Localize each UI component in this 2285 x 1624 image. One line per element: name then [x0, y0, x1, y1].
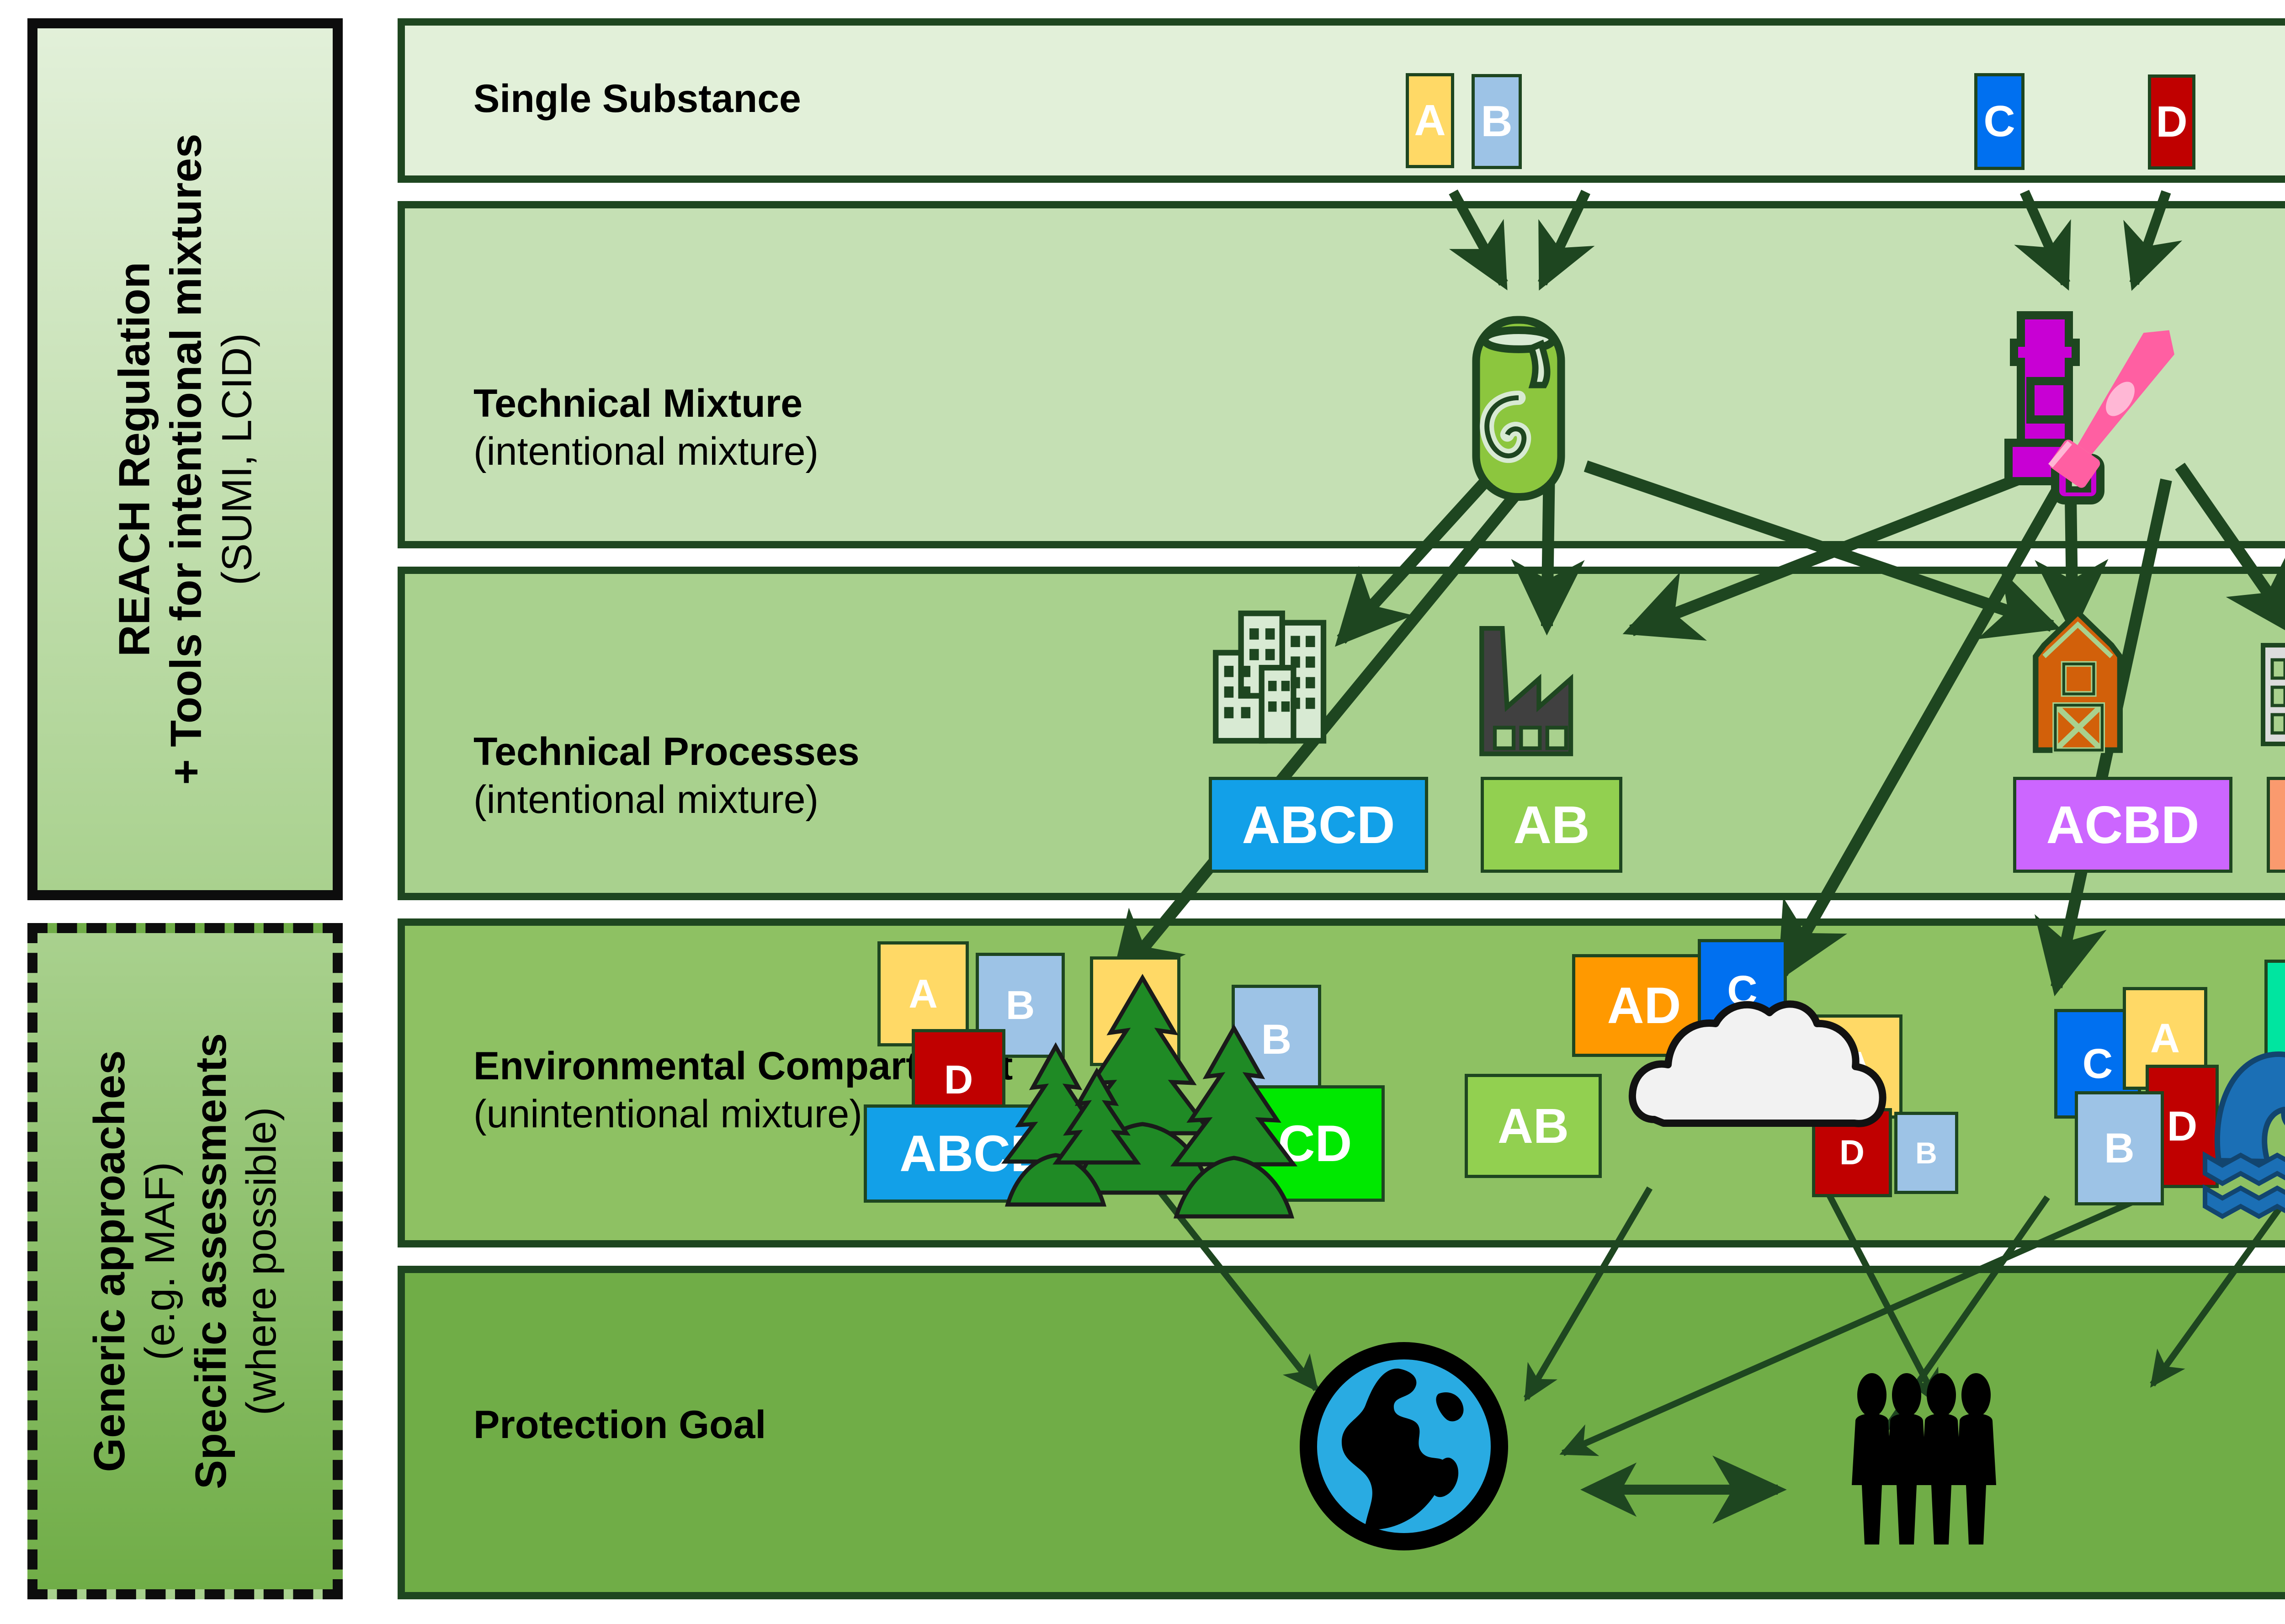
process-chip-bdac[interactable]: BDAC: [2267, 777, 2285, 873]
chip-label: CD: [1278, 1118, 1352, 1169]
row-label-protection-goal: Protection Goal: [473, 1401, 766, 1449]
row-protection-goal: Protection Goal: [398, 1266, 2285, 1599]
row-label-technical-processes: Technical Processes (intentional mixture…: [473, 680, 860, 872]
chip-label: A: [909, 974, 938, 1014]
row-label-single-substance: Single Substance: [473, 75, 801, 123]
row-label-technical-processes-sub: (intentional mixture): [473, 776, 860, 824]
env-chip-d2[interactable]: D: [1812, 1108, 1892, 1197]
chip-label: A: [1842, 1046, 1872, 1088]
chip-label: B: [1261, 1019, 1291, 1061]
chip-single-b[interactable]: B: [1472, 74, 1522, 169]
env-chip-b3[interactable]: B: [1894, 1112, 1958, 1194]
env-chip-abd[interactable]: ABD: [2264, 960, 2285, 1072]
generic-line-3: Specific assessments: [185, 1033, 237, 1489]
chip-label: B: [2104, 1127, 2134, 1169]
chip-label: A: [1120, 990, 1150, 1032]
env-chip-ad[interactable]: AD: [1572, 954, 1716, 1057]
process-chip-ab[interactable]: AB: [1481, 777, 1622, 873]
diagram-canvas: REACH Regulation + Tools for intentional…: [0, 0, 2285, 1624]
process-chip-abcd[interactable]: ABCD: [1209, 777, 1428, 873]
reach-line-2: + Tools for intentional mixtures: [162, 133, 211, 785]
generic-line-2: (e.g. MAF): [135, 1033, 185, 1489]
row-label-technical-mixture-sub: (intentional mixture): [473, 428, 818, 476]
generic-line-4: (where possible): [237, 1033, 287, 1489]
chip-label: C: [1983, 100, 2015, 143]
env-chip-ab2[interactable]: AB: [1465, 1074, 1602, 1178]
env-chip-b2[interactable]: B: [1232, 985, 1321, 1094]
chip-label: ABCD: [1242, 798, 1395, 851]
generic-line-1: Generic approaches: [84, 1033, 135, 1489]
chip-label: AD: [1607, 980, 1681, 1031]
generic-approaches-label: Generic approaches (e.g. MAF) Specific a…: [84, 1033, 287, 1489]
reach-regulation-label: REACH Regulation + Tools for intentional…: [108, 133, 261, 785]
chip-label: B: [1915, 1138, 1937, 1168]
row-label-technical-mixture-main: Technical Mixture: [473, 382, 802, 425]
chip-single-c[interactable]: C: [1974, 73, 2025, 170]
chip-label: D: [1839, 1136, 1865, 1170]
chip-label: ABCD: [899, 1128, 1047, 1179]
env-chip-cd[interactable]: CD: [1245, 1085, 1385, 1202]
chip-single-a[interactable]: A: [1406, 73, 1454, 168]
chip-single-d[interactable]: D: [2148, 74, 2195, 170]
process-chip-acbd[interactable]: ACBD: [2013, 777, 2232, 873]
row-label-technical-mixture: Technical Mixture (intentional mixture): [473, 332, 818, 524]
env-chip-c2[interactable]: C: [1698, 939, 1787, 1042]
reach-line-1: REACH Regulation: [110, 262, 159, 657]
chip-label: AB: [1513, 798, 1590, 851]
generic-approaches-box: Generic approaches (e.g. MAF) Specific a…: [27, 923, 343, 1599]
chip-label: AB: [1498, 1101, 1569, 1151]
reach-line-3: (SUMI, LCID): [212, 133, 262, 785]
chip-label: C: [2083, 1043, 2113, 1085]
chip-label: ACBD: [2046, 798, 2199, 851]
env-chip-b4[interactable]: B: [2075, 1091, 2164, 1205]
env-chip-abcd[interactable]: ABCD: [864, 1104, 1083, 1203]
chip-label: A: [1414, 99, 1445, 143]
chip-label: D: [2167, 1105, 2197, 1147]
chip-label: A: [2150, 1018, 2180, 1059]
chip-label: D: [2156, 100, 2187, 144]
reach-regulation-box: REACH Regulation + Tools for intentional…: [27, 18, 343, 900]
row-technical-mixture: Technical Mixture (intentional mixture): [398, 201, 2285, 548]
chip-label: B: [1481, 100, 1512, 143]
env-chip-a2[interactable]: A: [1090, 956, 1180, 1066]
chip-label: D: [944, 1060, 973, 1100]
chip-label: C: [1727, 970, 1757, 1012]
row-label-technical-processes-main: Technical Processes: [473, 730, 860, 774]
env-chip-a3[interactable]: A: [1812, 1014, 1902, 1119]
chip-label: B: [1006, 985, 1035, 1025]
